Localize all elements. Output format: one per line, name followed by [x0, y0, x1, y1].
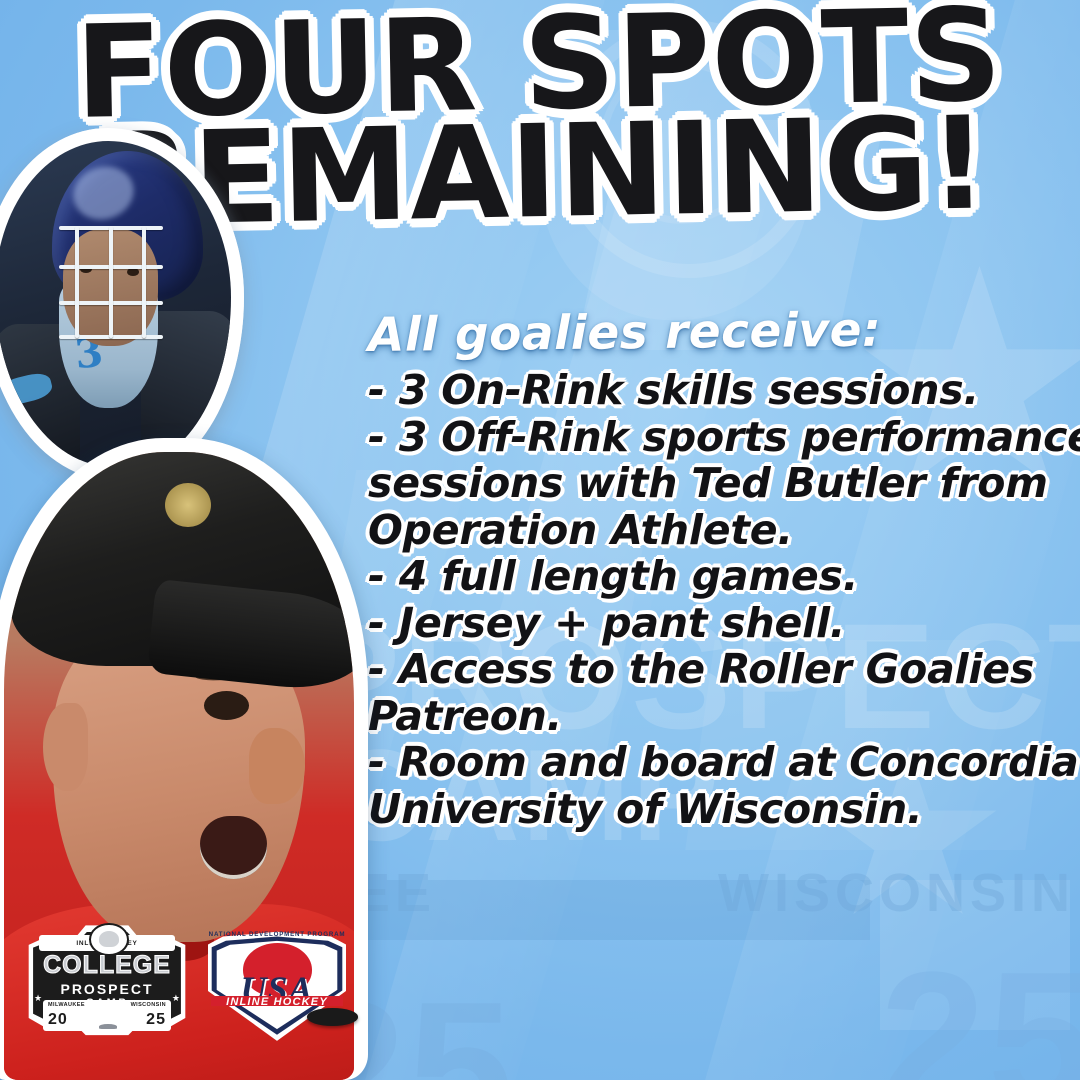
- goalie-photo: 3: [0, 128, 244, 480]
- cpc-subtitle: PROSPECT: [18, 981, 196, 997]
- benefits-list: - 3 On-Rink skills sessions. - 3 Off-Rin…: [368, 367, 1068, 832]
- college-prospect-camp-logo: INLINE HOCKEY COLLEGE PROSPECT CAMP ★ ★ …: [18, 918, 196, 1040]
- list-item: sessions with Ted Butler from: [368, 460, 1068, 507]
- watermark-wisconsin: WISCONSIN: [718, 862, 1075, 924]
- coach-eye: [204, 691, 250, 720]
- list-item: - 3 On-Rink skills sessions.: [368, 367, 1068, 414]
- cpc-city-right: WISCONSIN: [131, 1002, 166, 1008]
- coach-ear: [43, 703, 89, 791]
- offer-copy: All goalies receive: - 3 On-Rink skills …: [368, 312, 1068, 832]
- list-item: Patreon.: [368, 693, 1068, 740]
- cpc-star-right-icon: ★: [172, 994, 180, 1004]
- coach-mouth: [200, 816, 267, 879]
- hockey-puck-icon: [307, 1008, 358, 1025]
- cpc-cities: MILWAUKEE WISCONSIN: [48, 1002, 166, 1008]
- usa-inline-hockey-logo: NATIONAL DEVELOPMENT PROGRAM USA INLINE …: [202, 926, 352, 1042]
- poster-root: ★ ★ PROSPECT CAMP AUKEE WISCONSIN 25 25 …: [0, 0, 1080, 1080]
- watermark-year-right: 25: [880, 930, 1080, 1080]
- list-item: - 3 Off-Rink sports performance: [368, 414, 1068, 461]
- subheading: All goalies receive:: [368, 305, 1068, 359]
- goalie-cage: [59, 226, 163, 356]
- cpc-year-right: 25: [146, 1011, 166, 1029]
- cpc-city-bar: MILWAUKEE WISCONSIN 20 25: [43, 1000, 171, 1032]
- coach-nose: [249, 728, 305, 803]
- usa-top-text: NATIONAL DEVELOPMENT PROGRAM: [202, 931, 352, 938]
- cpc-star-left-icon: ★: [34, 994, 42, 1004]
- list-item: - 4 full length games.: [368, 553, 1068, 600]
- list-item: University of Wisconsin.: [368, 786, 1068, 833]
- cpc-title: COLLEGE: [18, 951, 196, 980]
- cpc-city-left: MILWAUKEE: [48, 1002, 85, 1008]
- coach-cap-logo: [165, 483, 211, 527]
- usa-subtitle: INLINE HOCKEY: [202, 996, 352, 1008]
- list-item: - Jersey + pant shell.: [368, 600, 1068, 647]
- list-item: - Room and board at Concordia: [368, 739, 1068, 786]
- cpc-year-left: 20: [48, 1011, 68, 1029]
- list-item: Operation Athlete.: [368, 507, 1068, 554]
- cpc-helmet-icon: [99, 1024, 117, 1029]
- list-item: - Access to the Roller Goalies: [368, 646, 1068, 693]
- goalie-photo-image: 3: [0, 141, 231, 467]
